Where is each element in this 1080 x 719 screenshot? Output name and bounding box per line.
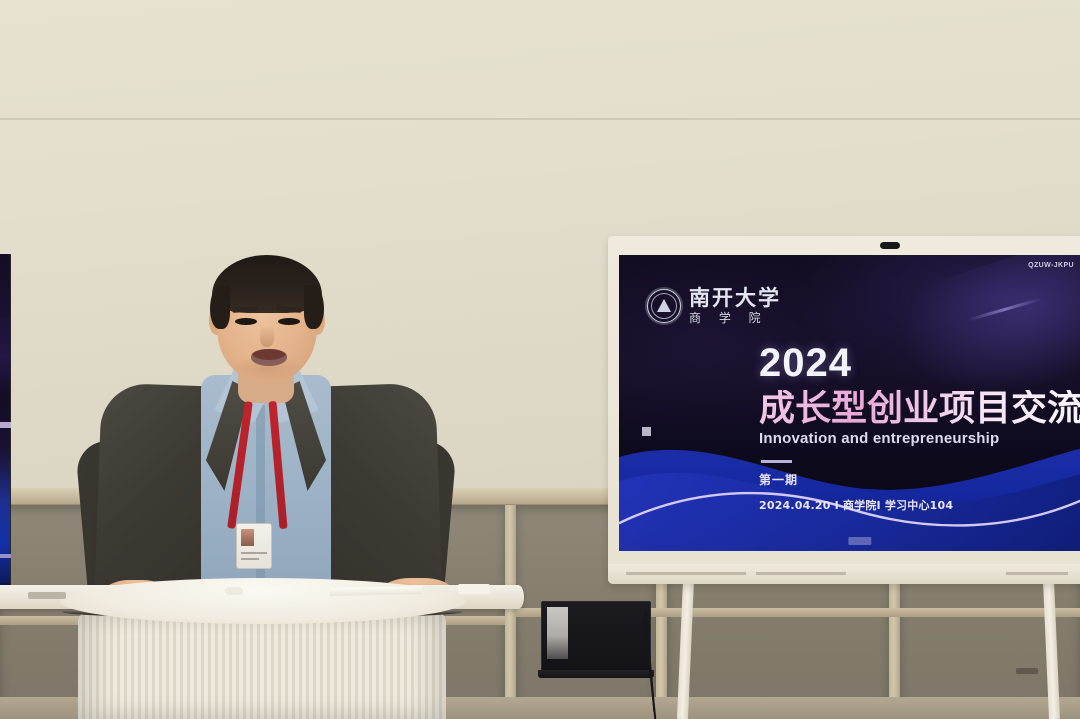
smart-display[interactable]: QZUW-JKPU 南开大学 商 学 院 2024 成长型创业项目交流会 [608,236,1080,584]
school-name: 商 学 院 [689,312,781,324]
display-status-bar: QZUW-JKPU [1028,261,1080,269]
podium-body [78,612,446,719]
wall-seam [0,118,1080,120]
podium-object-left[interactable] [28,592,66,599]
presenter-nose [260,325,274,347]
laptop-on-shelf[interactable] [541,601,651,680]
decorative-square [642,427,651,436]
presenter-eye-right [278,318,300,325]
podium-microphone[interactable] [225,587,243,595]
wifi-ssid-label: QZUW-JKPU [1028,262,1074,269]
slide-rule [761,460,792,463]
slide-meta: 2024.04.20 I 商学院I 学习中心104 [759,497,1080,513]
camera-icon [880,242,900,249]
display-screen[interactable]: QZUW-JKPU 南开大学 商 学 院 2024 成长型创业项目交流会 [619,255,1080,551]
badge-text-line [241,558,259,560]
badge-text-line [241,552,267,554]
display-chin [608,564,1080,584]
slide-text-block: 2024 成长型创业项目交流会 Innovation and entrepren… [759,343,1080,513]
id-badge [236,523,272,569]
university-logo: 南开大学 商 学 院 [647,287,781,324]
slide-headline: 成长型创业项目交流会 [759,390,1080,429]
laptop-screen [547,607,568,659]
university-seal-icon [647,289,681,323]
shelf-object [1016,668,1038,674]
slide-watermark: ...... [848,537,871,545]
slide-subtitle-en: Innovation and entrepreneurship [759,430,1080,447]
slide-phase: 第一期 [759,471,1080,488]
presenter [60,255,480,605]
badge-photo [241,529,254,546]
shelf-divider [505,505,516,719]
presenter-hair-right [304,285,324,329]
secondary-display-wave [0,554,11,558]
chin-label [626,572,746,575]
university-name: 南开大学 [689,287,781,308]
podium-top-surface [60,578,465,624]
secondary-display-edge[interactable] [0,254,11,597]
conference-room-scene: QZUW-JKPU 南开大学 商 学 院 2024 成长型创业项目交流会 [0,0,1080,719]
presenter-eye-left [235,318,257,325]
laptop-lid [541,601,651,671]
chin-label [756,572,846,575]
podium-clicker[interactable] [458,584,490,594]
presenter-hair-left [210,285,230,329]
shirt-placket [256,405,265,605]
laptop-base [538,670,654,678]
chin-label [1006,572,1068,575]
secondary-display-wave [0,422,11,428]
presenter-mouth [251,349,287,366]
slide-year: 2024 [759,343,1080,383]
